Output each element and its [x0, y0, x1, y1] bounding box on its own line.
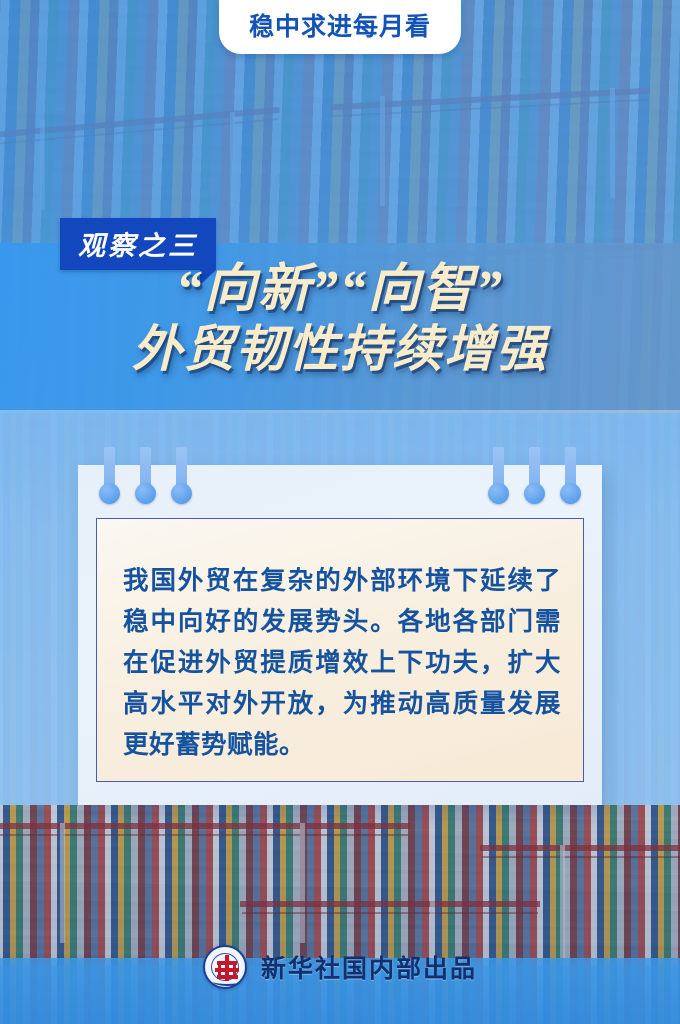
poster-title: “向新”“向智” 外贸韧性持续增强 [0, 258, 680, 380]
note-inner-panel: 我国外贸在复杂的外部环境下延续了稳中向好的发展势头。各地各部门需在促进外贸提质增… [96, 518, 584, 782]
poster-root: 稳中求进每月看 观察之三 “向新”“向智” 外贸韧性持续增强 [0, 0, 680, 1024]
footer-credit-label: 新华社国内部出品 [261, 949, 477, 985]
note-body-text: 我国外贸在复杂的外部环境下延续了稳中向好的发展势头。各地各部门需在促进外贸提质增… [123, 561, 561, 766]
top-banner-tab: 稳中求进每月看 [219, 0, 461, 54]
title-line-2: 外贸韧性持续增强 [0, 318, 680, 380]
note-card: 我国外贸在复杂的外部环境下延续了稳中向好的发展势头。各地各部门需在促进外贸提质增… [78, 465, 602, 805]
top-banner-label: 稳中求进每月看 [249, 7, 431, 43]
footer-credit-row: 新华社国内部出品 [0, 938, 680, 996]
xinhua-logo-icon [203, 945, 247, 989]
title-line-1: “向新”“向智” [0, 258, 680, 322]
